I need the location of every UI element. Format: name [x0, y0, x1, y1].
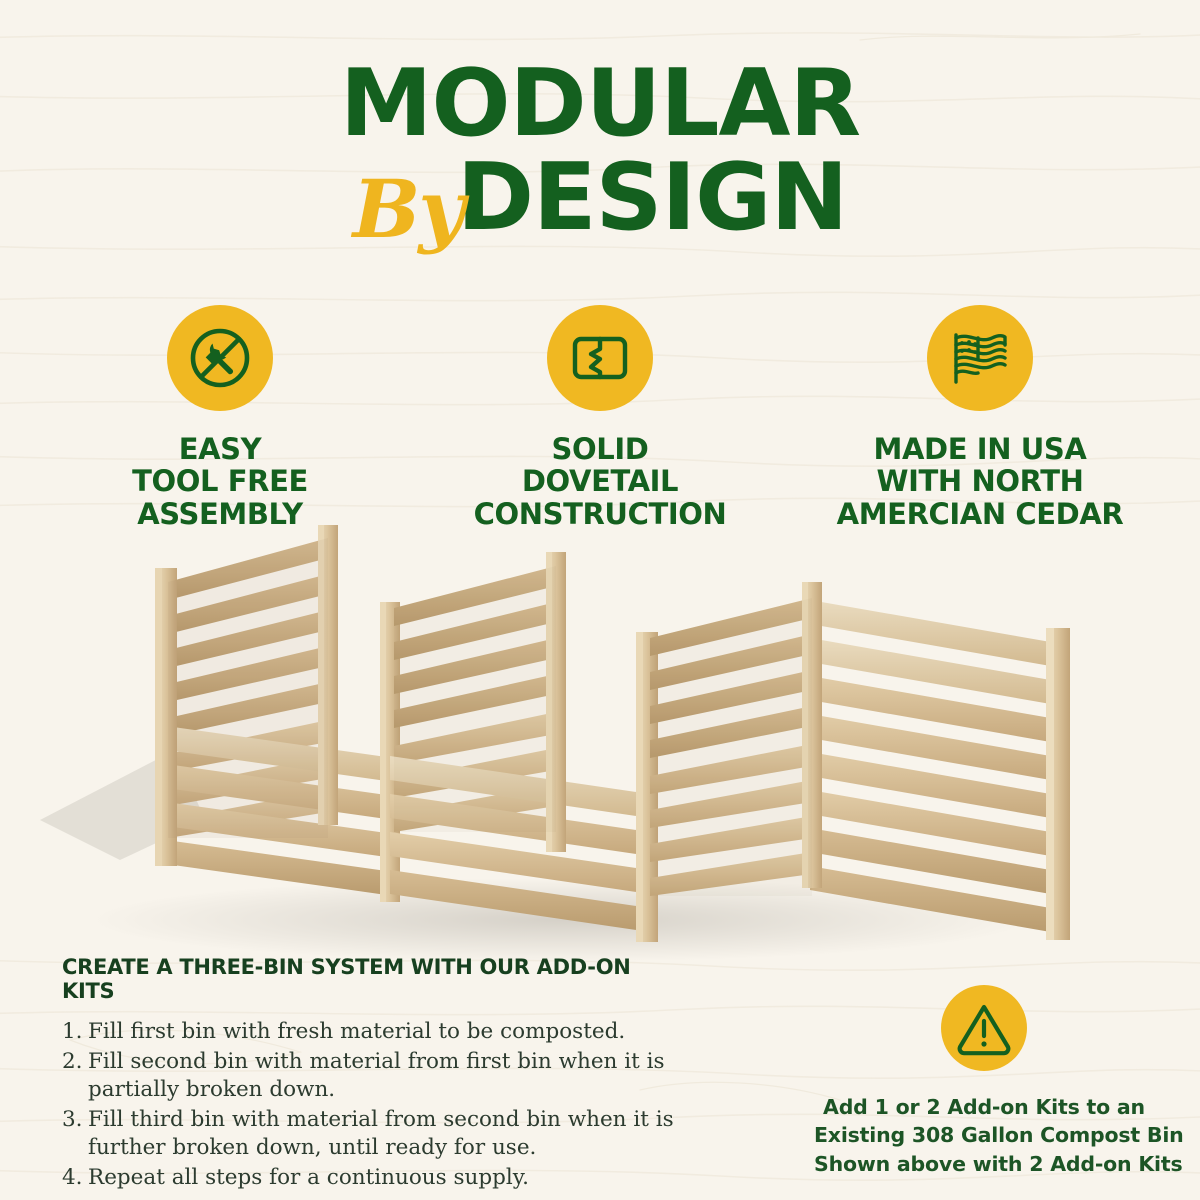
- steps-title: CREATE A THREE-BIN SYSTEM WITH OUR ADD-O…: [62, 955, 682, 1003]
- no-tools-wrench-icon: [185, 323, 255, 393]
- step-text: Fill third bin with material from second…: [88, 1106, 682, 1163]
- headline-line-by-design: ByDESIGN: [0, 153, 1200, 249]
- step-number: 1.: [62, 1018, 88, 1047]
- feature-label: SOLID DOVETAIL CONSTRUCTION: [420, 433, 780, 530]
- feature-badges: EASY TOOL FREE ASSEMBLY SOLID DOVETAIL C…: [40, 305, 1160, 530]
- feature-label: EASY TOOL FREE ASSEMBLY: [40, 433, 400, 530]
- feature-label-line: EASY: [40, 433, 400, 465]
- step-number: 4.: [62, 1164, 88, 1193]
- badge-circle: [941, 985, 1027, 1071]
- step-text: Fill first bin with fresh material to be…: [88, 1018, 682, 1047]
- step-number: 3.: [62, 1106, 88, 1163]
- feature-tool-free: EASY TOOL FREE ASSEMBLY: [40, 305, 400, 530]
- headline: MODULAR ByDESIGN: [0, 58, 1200, 249]
- feature-label: MADE IN USA WITH NORTH AMERCIAN CEDAR: [800, 433, 1160, 530]
- step-item: 1. Fill first bin with fresh material to…: [62, 1018, 682, 1047]
- warning-triangle-icon: [955, 999, 1013, 1057]
- bin-3-right-wall: [810, 598, 1062, 934]
- feature-label-line: MADE IN USA: [800, 433, 1160, 465]
- step-item: 4. Repeat all steps for a continuous sup…: [62, 1164, 682, 1193]
- feature-label-line: TOOL FREE: [40, 465, 400, 497]
- badge-circle: [547, 305, 653, 411]
- badge-circle: [927, 305, 1033, 411]
- badge-circle: [167, 305, 273, 411]
- note-text: Add 1 or 2 Add-on Kits to an Existing 30…: [814, 1093, 1154, 1178]
- headline-script-by: By: [353, 162, 463, 256]
- infographic-page: MODULAR ByDESIGN: [0, 0, 1200, 1200]
- usa-flag-icon: [947, 325, 1013, 391]
- step-number: 2.: [62, 1048, 88, 1105]
- steps-section: CREATE A THREE-BIN SYSTEM WITH OUR ADD-O…: [62, 955, 682, 1194]
- step-text: Fill second bin with material from first…: [88, 1048, 682, 1105]
- feature-dovetail: SOLID DOVETAIL CONSTRUCTION: [420, 305, 780, 530]
- note-line: Existing 308 Gallon Compost Bin: [814, 1121, 1154, 1149]
- step-item: 2. Fill second bin with material from fi…: [62, 1048, 682, 1105]
- note-line: Add 1 or 2 Add-on Kits to an: [814, 1093, 1154, 1121]
- feature-label-line: WITH NORTH: [800, 465, 1160, 497]
- note-line: Shown above with 2 Add-on Kits: [814, 1150, 1154, 1178]
- feature-made-in-usa: MADE IN USA WITH NORTH AMERCIAN CEDAR: [800, 305, 1160, 530]
- addon-kit-note: Add 1 or 2 Add-on Kits to an Existing 30…: [814, 985, 1154, 1178]
- feature-label-line: DOVETAIL: [420, 465, 780, 497]
- feature-label-line: SOLID: [420, 433, 780, 465]
- product-image-three-bin-compost-bin: [0, 520, 1200, 960]
- headline-line-design: DESIGN: [457, 143, 847, 251]
- step-item: 3. Fill third bin with material from sec…: [62, 1106, 682, 1163]
- headline-line-modular: MODULAR: [0, 58, 1200, 149]
- step-text: Repeat all steps for a continuous supply…: [88, 1164, 682, 1193]
- dovetail-joint-icon: [569, 327, 631, 389]
